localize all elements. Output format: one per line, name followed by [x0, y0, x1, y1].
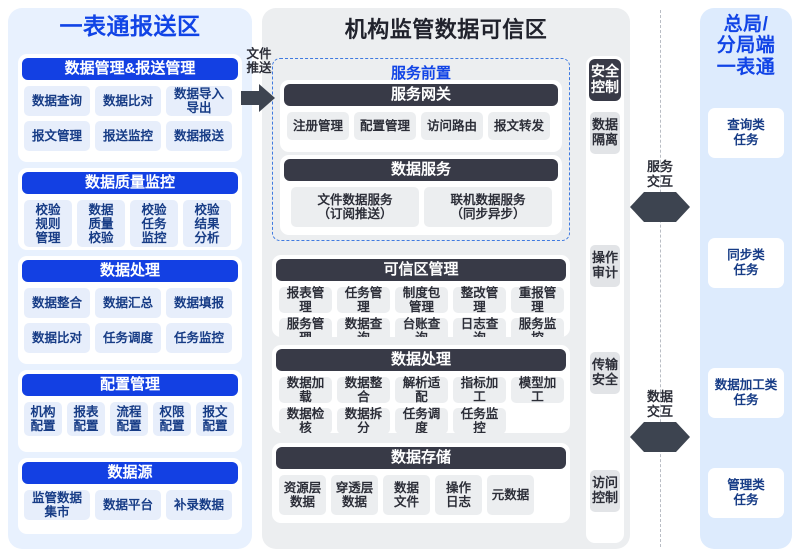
service-exchange-arrow-icon: [630, 190, 690, 224]
center-tag[interactable]: 数据 文件: [383, 475, 430, 515]
left-tag[interactable]: 校验 规则 管理: [24, 200, 72, 247]
task-item-3[interactable]: 数据加工类 任务: [708, 368, 784, 418]
left-tag[interactable]: 流程 配置: [110, 402, 148, 436]
center-group-body: 数据加载数据整合解析适配指标加工模型加工数据检核数据拆分任务调度任务监控: [272, 371, 570, 433]
left-tag[interactable]: 校验 任务 监控: [130, 200, 178, 247]
center-tag[interactable]: 整改管理: [453, 287, 506, 313]
center-group-1: 可信区管理报表管理任务管理制度包管理整改管理重报管理服务管理数据查询台账查询日志…: [272, 255, 570, 337]
left-tag[interactable]: 报文管理: [24, 121, 90, 151]
left-group-header: 配置管理: [22, 374, 238, 396]
left-group-body: 数据整合数据汇总数据填报数据比对任务调度任务监控: [18, 282, 242, 360]
left-tag[interactable]: 任务监控: [166, 323, 232, 353]
left-tag[interactable]: 数据比对: [24, 323, 90, 353]
left-tag[interactable]: 数据平台: [95, 490, 161, 520]
left-tag[interactable]: 数据查询: [24, 86, 90, 116]
center-tag[interactable]: 数据拆分: [337, 408, 390, 433]
left-tag[interactable]: 数据填报: [166, 288, 232, 318]
center-tag[interactable]: 任务调度: [395, 408, 448, 433]
center-group-3: 数据存储资源层 数据穿透层 数据数据 文件操作 日志元数据: [272, 443, 570, 523]
center-tag[interactable]: 资源层 数据: [279, 475, 326, 515]
left-tag[interactable]: 权限 配置: [153, 402, 191, 436]
left-group-3: 数据处理数据整合数据汇总数据填报数据比对任务调度任务监控: [18, 256, 242, 364]
center-tag[interactable]: 配置管理: [354, 112, 416, 140]
security-item-3[interactable]: 传输 安全: [590, 352, 620, 394]
center-tag[interactable]: 访问路由: [421, 112, 483, 140]
left-group-body: 监管数据 集市数据平台补录数据: [18, 484, 242, 527]
center-tag[interactable]: 操作 日志: [435, 475, 482, 515]
center-tag[interactable]: 联机数据服务 （同步异步）: [424, 187, 552, 227]
security-control-title: 安全 控制: [589, 59, 621, 101]
center-tag[interactable]: 数据加载: [279, 377, 332, 403]
architecture-diagram: 一表通报送区 机构监管数据可信区 总局/ 分局端 一表通 数据管理&报送管理数据…: [0, 0, 800, 557]
data-exchange-arrow-icon: [630, 420, 690, 454]
center-tag[interactable]: 元数据: [487, 475, 534, 515]
center-tag[interactable]: 报文转发: [488, 112, 550, 140]
left-tag[interactable]: 补录数据: [166, 490, 232, 520]
left-group-header: 数据源: [22, 462, 238, 484]
left-group-header: 数据处理: [22, 260, 238, 282]
task-item-4[interactable]: 管理类 任务: [708, 468, 784, 518]
security-item-1[interactable]: 数据 隔离: [590, 112, 620, 154]
center-tag[interactable]: 注册管理: [287, 112, 349, 140]
left-group-header: 数据管理&报送管理: [22, 58, 238, 80]
center-tag[interactable]: 报表管理: [279, 287, 332, 313]
left-group-5: 数据源监管数据 集市数据平台补录数据: [18, 458, 242, 534]
center-tag[interactable]: 数据查询: [337, 318, 390, 337]
center-tag[interactable]: 台账查询: [395, 318, 448, 337]
center-tag[interactable]: 穿透层 数据: [331, 475, 378, 515]
left-tag[interactable]: 报送监控: [95, 121, 161, 151]
left-tag[interactable]: 校验 结果 分析: [183, 200, 231, 247]
data-exchange-label: 数据 交互: [632, 390, 688, 419]
center-service-group-2: 数据服务文件数据服务 （订阅推送）联机数据服务 （同步异步）: [280, 155, 562, 235]
center-tag[interactable]: 指标加工: [453, 377, 506, 403]
left-tag[interactable]: 监管数据 集市: [24, 490, 90, 520]
left-group-body: 机构 配置报表 配置流程 配置权限 配置报文 配置: [18, 396, 242, 443]
center-service-group-1: 服务网关注册管理配置管理访问路由报文转发: [280, 80, 562, 152]
left-group-body: 数据查询数据比对数据导入 导出报文管理报送监控数据报送: [18, 80, 242, 158]
left-tag[interactable]: 数据报送: [166, 121, 232, 151]
center-panel-title: 机构监管数据可信区: [262, 18, 630, 43]
left-tag[interactable]: 数据整合: [24, 288, 90, 318]
center-group-header: 数据处理: [276, 349, 566, 371]
center-tag[interactable]: 解析适配: [395, 377, 448, 403]
task-item-1[interactable]: 查询类 任务: [708, 108, 784, 158]
center-tag[interactable]: 日志查询: [453, 318, 506, 337]
center-tag[interactable]: 服务监控: [511, 318, 564, 337]
left-group-body: 校验 规则 管理数据 质量 校验校验 任务 监控校验 结果 分析: [18, 194, 242, 250]
center-group-header: 数据服务: [284, 159, 558, 181]
left-group-4: 配置管理机构 配置报表 配置流程 配置权限 配置报文 配置: [18, 370, 242, 452]
task-item-2[interactable]: 同步类 任务: [708, 238, 784, 288]
center-tag[interactable]: 任务监控: [453, 408, 506, 433]
file-push-arrow-icon: [241, 84, 275, 112]
left-group-2: 数据质量监控校验 规则 管理数据 质量 校验校验 任务 监控校验 结果 分析: [18, 168, 242, 250]
left-panel-title: 一表通报送区: [8, 14, 252, 40]
left-tag[interactable]: 数据导入 导出: [166, 86, 232, 116]
center-tag[interactable]: 数据检核: [279, 408, 332, 433]
service-exchange-label: 服务 交互: [632, 160, 688, 189]
left-tag[interactable]: 机构 配置: [24, 402, 62, 436]
center-group-body: 资源层 数据穿透层 数据数据 文件操作 日志元数据: [272, 469, 570, 522]
center-group-header: 服务网关: [284, 84, 558, 106]
left-group-1: 数据管理&报送管理数据查询数据比对数据导入 导出报文管理报送监控数据报送: [18, 54, 242, 162]
security-item-2[interactable]: 操作 审计: [590, 245, 620, 287]
center-group-2: 数据处理数据加载数据整合解析适配指标加工模型加工数据检核数据拆分任务调度任务监控: [272, 345, 570, 433]
center-tag[interactable]: 文件数据服务 （订阅推送）: [291, 187, 419, 227]
left-tag[interactable]: 数据比对: [95, 86, 161, 116]
center-tag[interactable]: 服务管理: [279, 318, 332, 337]
zone-divider-line: [660, 10, 661, 547]
center-tag[interactable]: 制度包管理: [395, 287, 448, 313]
center-tag[interactable]: 数据整合: [337, 377, 390, 403]
left-tag[interactable]: 数据 质量 校验: [77, 200, 125, 247]
center-tag[interactable]: 重报管理: [511, 287, 564, 313]
center-group-body: 注册管理配置管理访问路由报文转发: [280, 106, 562, 147]
center-tag[interactable]: 任务管理: [337, 287, 390, 313]
center-group-body: 报表管理任务管理制度包管理整改管理重报管理服务管理数据查询台账查询日志查询服务监…: [272, 281, 570, 337]
right-panel-title: 总局/ 分局端 一表通: [700, 14, 792, 78]
center-group-body: 文件数据服务 （订阅推送）联机数据服务 （同步异步）: [280, 181, 562, 234]
center-group-header: 可信区管理: [276, 259, 566, 281]
left-group-header: 数据质量监控: [22, 172, 238, 194]
left-tag[interactable]: 数据汇总: [95, 288, 161, 318]
center-tag[interactable]: 模型加工: [511, 377, 564, 403]
left-tag[interactable]: 任务调度: [95, 323, 161, 353]
file-push-label: 文件 推送: [238, 47, 280, 76]
security-item-4[interactable]: 访问 控制: [590, 470, 620, 512]
left-tag[interactable]: 报文 配置: [196, 402, 234, 436]
center-group-header: 数据存储: [276, 447, 566, 469]
left-tag[interactable]: 报表 配置: [67, 402, 105, 436]
